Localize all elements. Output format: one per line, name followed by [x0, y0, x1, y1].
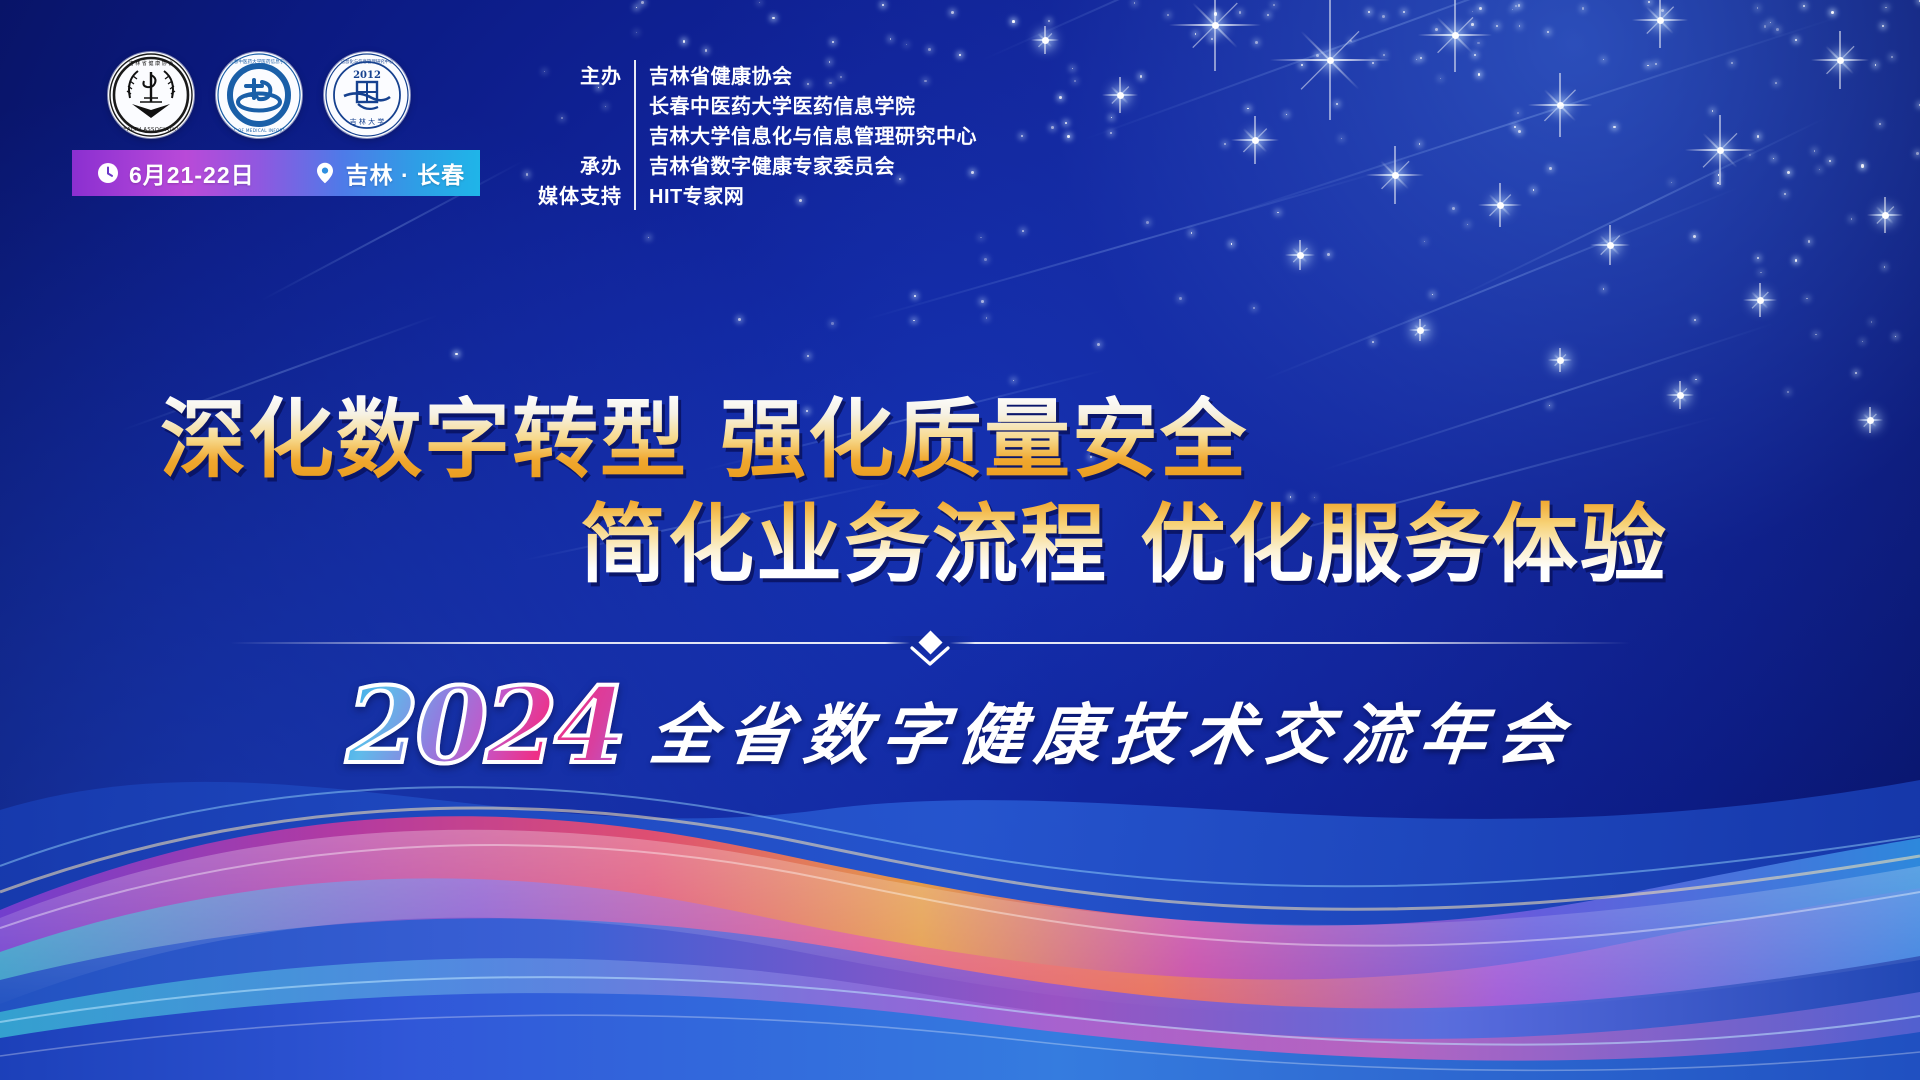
star-dot [1097, 343, 1100, 346]
star-dot [1871, 321, 1873, 323]
credit-row: 媒体支持 HIT专家网 [538, 180, 977, 210]
credit-label: 承办 [538, 150, 634, 179]
location-segment: 吉林 · 长春 [313, 156, 465, 190]
star-dot [981, 300, 984, 303]
star-dot [1372, 341, 1374, 343]
credit-row: 承办 吉林省数字健康专家委员会 [538, 150, 977, 180]
star-dot [807, 355, 809, 357]
credits-block: 主办 吉林省健康协会 长春中医药大学医药信息学院 吉林大学信息化与信息管理研究中… [538, 60, 977, 210]
date-location-bar: 6月21-22日 吉林 · 长春 [72, 150, 480, 196]
credit-divider [634, 60, 636, 90]
star-dot [1694, 319, 1696, 321]
star-dot [738, 318, 741, 321]
conference-poster: 吉 林 省 健 康 协 会 HEALTH ASSOCIATION 长春中医药大学… [0, 0, 1920, 1080]
star-dot [1757, 257, 1759, 259]
location-text: 吉林 · 长春 [346, 156, 465, 190]
credit-value: 吉林大学信息化与信息管理研究中心 [649, 120, 977, 149]
credit-label: 媒体支持 [538, 180, 634, 209]
star-sparkle [1409, 319, 1431, 341]
star-dot [1327, 253, 1330, 256]
organizer-logos: 吉 林 省 健 康 协 会 HEALTH ASSOCIATION 长春中医药大学… [108, 52, 410, 138]
star-dot [455, 353, 457, 355]
credit-value: 长春中医药大学医药信息学院 [649, 90, 916, 119]
jilin-university-informatization-research-center-emblem: 2012 信息化与信息管理研究中心 吉 林 大 学 [324, 52, 410, 138]
star-dot [1795, 259, 1797, 261]
star-dot [984, 258, 987, 261]
headline-divider [230, 630, 1630, 656]
star-dot [1179, 297, 1182, 300]
star-dot [914, 295, 916, 297]
star-dot [1862, 341, 1863, 342]
map-pin-icon [313, 161, 337, 185]
jilin-health-association-emblem: 吉 林 省 健 康 协 会 HEALTH ASSOCIATION [108, 52, 194, 138]
main-headline: 深化数字转型 强化质量安全 简化业务流程 优化服务体验 [0, 395, 1920, 591]
credit-divider [634, 180, 636, 210]
star-sparkle [1743, 283, 1777, 317]
credit-row: 吉林大学信息化与信息管理研究中心 [538, 120, 977, 150]
credit-row: 长春中医药大学医药信息学院 [538, 90, 977, 120]
star-dot [1695, 379, 1697, 381]
date-text: 6月21-22日 [129, 156, 255, 190]
star-dot [1884, 266, 1886, 268]
star-dot [1231, 243, 1232, 244]
changchun-university-cm-medical-information-emblem: 长春中医药大学医药信息学院 SCHOOL OF MEDICAL INFORMAT… [216, 52, 302, 138]
star-dot [1760, 272, 1762, 274]
credit-value: 吉林省数字健康专家委员会 [649, 150, 895, 179]
star-dot [1895, 336, 1897, 338]
credit-divider [634, 90, 636, 120]
svg-text:吉 林 大 学: 吉 林 大 学 [350, 117, 385, 126]
star-dot [1855, 372, 1858, 375]
star-dot [986, 317, 987, 318]
wave-artwork [0, 660, 1920, 1080]
star-dot [1424, 241, 1425, 242]
star-dot [1815, 334, 1816, 335]
svg-text:信息化与信息管理研究中心: 信息化与信息管理研究中心 [341, 58, 394, 65]
credit-row: 主办 吉林省健康协会 [538, 60, 977, 90]
credit-label: 主办 [538, 60, 634, 89]
headline-line-1: 深化数字转型 强化质量安全 [160, 395, 1920, 486]
credit-divider [634, 150, 636, 180]
star-dot [1808, 240, 1810, 242]
date-segment: 6月21-22日 [96, 156, 255, 190]
star-sparkle [1285, 240, 1315, 270]
star-sparkle [1548, 348, 1572, 372]
star-dot [1432, 294, 1434, 296]
star-dot [1806, 298, 1808, 300]
star-dot [1253, 307, 1255, 309]
svg-text:HEALTH ASSOCIATION: HEALTH ASSOCIATION [119, 127, 183, 133]
svg-text:吉 林 省 健 康 协 会: 吉 林 省 健 康 协 会 [129, 60, 174, 67]
star-dot [1787, 391, 1789, 393]
star-dot [1013, 380, 1014, 381]
headline-line-2: 简化业务流程 优化服务体验 [580, 500, 1920, 591]
star-dot [831, 322, 834, 325]
credit-divider [634, 120, 636, 150]
credit-value: 吉林省健康协会 [649, 60, 793, 89]
svg-text:长春中医药大学医药信息学院: 长春中医药大学医药信息学院 [229, 58, 289, 65]
svg-text:SCHOOL OF MEDICAL INFORMATION: SCHOOL OF MEDICAL INFORMATION [217, 128, 301, 133]
credit-value: HIT专家网 [649, 180, 744, 209]
star-dot [1603, 288, 1605, 290]
clock-icon [96, 161, 120, 185]
svg-text:2012: 2012 [353, 70, 381, 81]
star-dot [913, 320, 915, 322]
poster-header: 吉 林 省 健 康 协 会 HEALTH ASSOCIATION 长春中医药大学… [0, 0, 1920, 240]
